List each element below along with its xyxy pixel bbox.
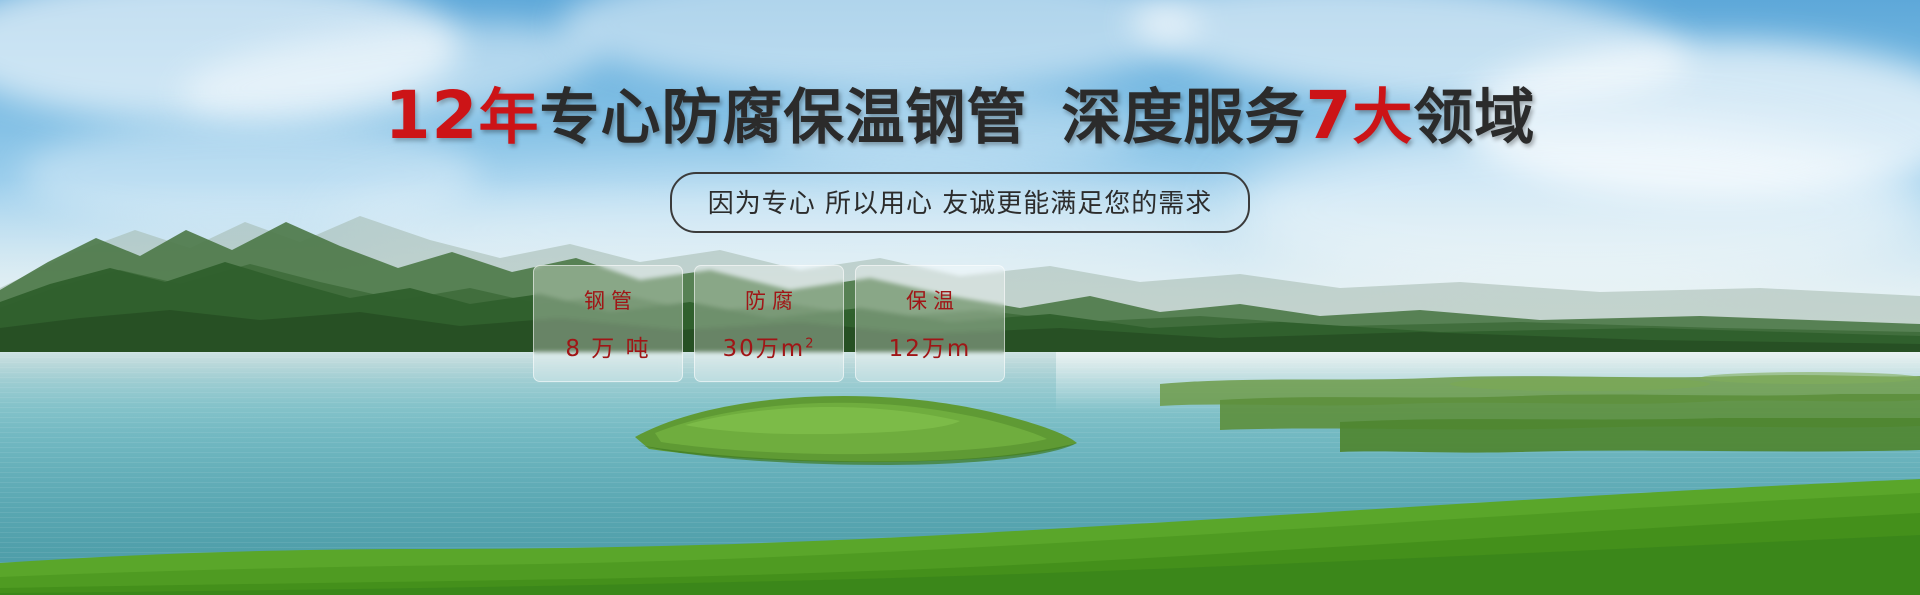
stat-card-anticorrosion[interactable]: 防腐 30万m2 — [694, 265, 844, 382]
banner-content: 12年专心防腐保温钢管深度服务7大领域 因为专心 所以用心 友诚更能满足您的需求… — [0, 0, 1920, 595]
stat-card-value: 8 万 吨 — [565, 329, 650, 363]
stat-card-label: 保温 — [900, 285, 960, 315]
headline: 12年专心防腐保温钢管深度服务7大领域 — [0, 83, 1920, 149]
hero-banner: 12年专心防腐保温钢管深度服务7大领域 因为专心 所以用心 友诚更能满足您的需求… — [0, 0, 1920, 595]
headline-service-text: 深度服务 — [1061, 83, 1305, 153]
stat-card-insulation[interactable]: 保温 12万m — [855, 265, 1005, 382]
stat-value-text: 30万m — [723, 336, 806, 362]
stat-value-superscript: 2 — [805, 336, 815, 351]
stat-value-text: 12万m — [889, 336, 972, 362]
stat-card-value: 30万m2 — [723, 329, 816, 363]
subtitle-pill: 因为专心 所以用心 友诚更能满足您的需求 — [670, 172, 1251, 233]
stat-card-label: 钢管 — [578, 285, 638, 315]
headline-fields-number: 7 — [1305, 77, 1352, 154]
stat-card-label: 防腐 — [739, 285, 799, 315]
headline-years-number: 12 — [385, 77, 479, 154]
stat-cards: 钢管 8 万 吨 防腐 30万m2 保温 12万m — [533, 265, 1005, 382]
headline-fields-unit: 领域 — [1413, 83, 1535, 153]
headline-main-text: 专心防腐保温钢管 — [539, 83, 1027, 153]
stat-card-value: 12万m — [889, 329, 972, 363]
stat-value-text: 8 万 吨 — [565, 336, 650, 362]
stat-card-steel-pipe[interactable]: 钢管 8 万 吨 — [533, 265, 683, 382]
headline-fields-unit-red: 大 — [1352, 83, 1413, 153]
subtitle-container: 因为专心 所以用心 友诚更能满足您的需求 — [0, 172, 1920, 233]
headline-years-unit: 年 — [478, 83, 539, 153]
